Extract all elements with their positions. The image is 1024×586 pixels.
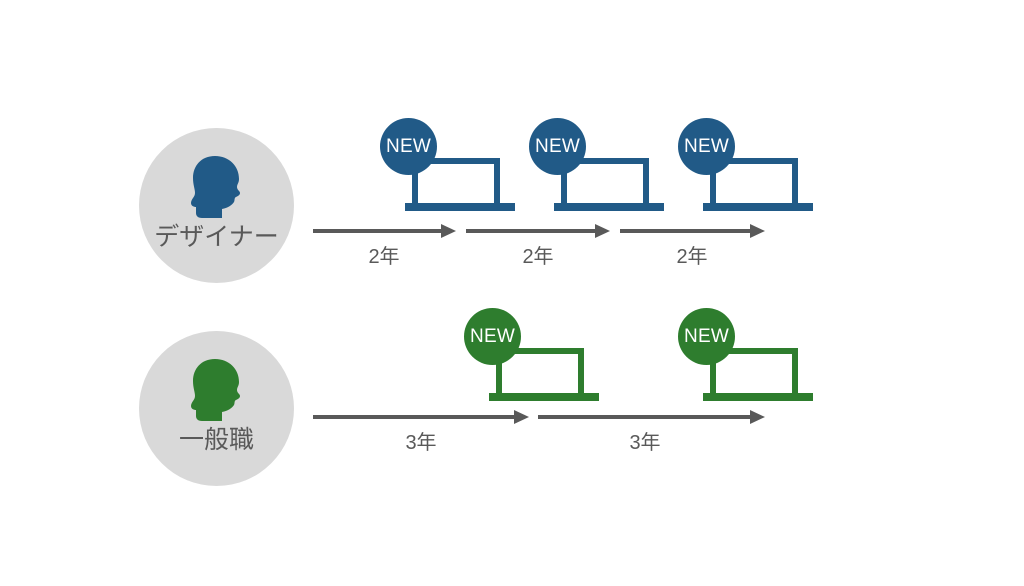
head-silhouette-icon (188, 156, 246, 218)
new-badge-label: NEW (684, 137, 729, 156)
timeline-arrow-general-1 (313, 410, 529, 424)
diagram-canvas: デザイナー NEW NEW NEW (0, 0, 1024, 586)
arrow-head-icon (514, 410, 529, 424)
new-badge: NEW (678, 308, 735, 365)
duration-label-general-1: 3年 (371, 431, 471, 455)
head-silhouette-icon (188, 359, 246, 421)
device-group-designer-2: NEW (553, 118, 673, 218)
timeline-arrow-designer-3 (620, 224, 765, 238)
role-circle-general: 一般職 (139, 331, 294, 486)
arrow-head-icon (441, 224, 456, 238)
role-label-designer: デザイナー (154, 222, 279, 252)
new-badge-label: NEW (535, 137, 580, 156)
new-badge-label: NEW (684, 327, 729, 346)
arrow-shaft (620, 229, 750, 233)
new-badge: NEW (529, 118, 586, 175)
arrow-shaft (538, 415, 750, 419)
duration-label-general-2: 3年 (595, 431, 695, 455)
timeline-arrow-designer-2 (466, 224, 610, 238)
duration-label-designer-1: 2年 (334, 245, 434, 269)
timeline-arrow-general-2 (538, 410, 765, 424)
arrow-head-icon (750, 410, 765, 424)
arrow-shaft (313, 229, 441, 233)
timeline-arrow-designer-1 (313, 224, 456, 238)
new-badge: NEW (464, 308, 521, 365)
role-label-general: 一般職 (179, 425, 254, 455)
device-group-designer-1: NEW (404, 118, 524, 218)
new-badge-label: NEW (386, 137, 431, 156)
device-group-general-1: NEW (488, 308, 608, 408)
arrow-shaft (466, 229, 595, 233)
device-group-designer-3: NEW (702, 118, 822, 218)
new-badge: NEW (380, 118, 437, 175)
role-circle-designer: デザイナー (139, 128, 294, 283)
new-badge: NEW (678, 118, 735, 175)
arrow-head-icon (750, 224, 765, 238)
duration-label-designer-3: 2年 (642, 245, 742, 269)
arrow-head-icon (595, 224, 610, 238)
duration-label-designer-2: 2年 (488, 245, 588, 269)
arrow-shaft (313, 415, 514, 419)
device-group-general-2: NEW (702, 308, 822, 408)
new-badge-label: NEW (470, 327, 515, 346)
